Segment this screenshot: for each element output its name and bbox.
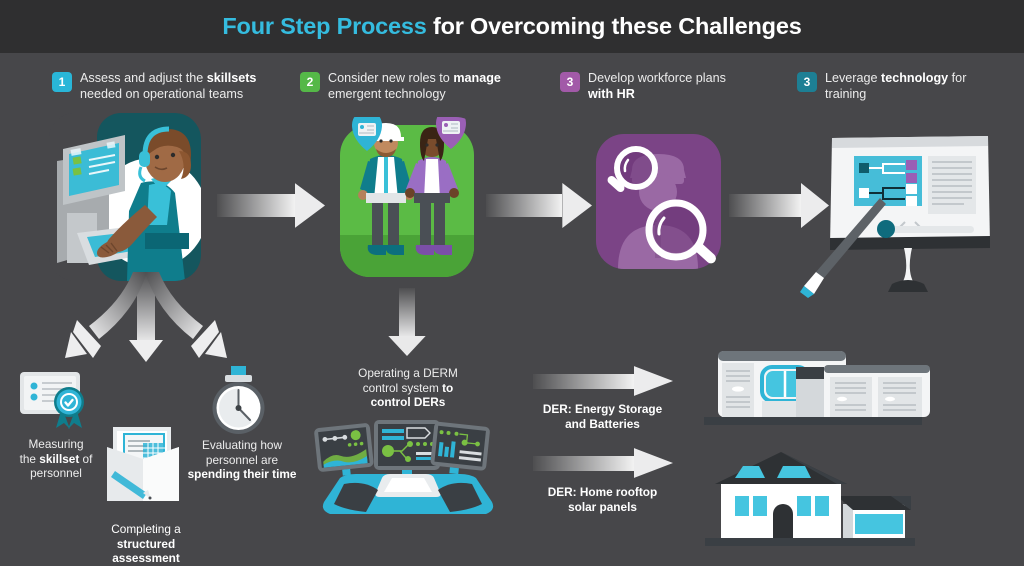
step-2-prefix: Consider new roles to xyxy=(328,71,453,85)
caption-measuring-skillset: Measuring the skillset of personnel xyxy=(8,437,104,481)
arrow-step2-to-step3 xyxy=(486,183,592,228)
caption-3-line3: spending their time xyxy=(188,467,297,481)
illustration-person-with-magnifiers xyxy=(594,132,729,277)
step-2-suffix: emergent technology xyxy=(328,87,446,101)
icon-stopwatch xyxy=(205,366,273,436)
arrow-head xyxy=(634,366,673,396)
step-4-prefix: Leverage xyxy=(825,71,881,85)
der-2-line2: solar panels xyxy=(568,500,637,514)
infographic-canvas: Four Step Process for Overcoming these C… xyxy=(0,0,1024,566)
arrow-shaft xyxy=(399,288,416,337)
illustration-presentation-board xyxy=(800,118,1015,308)
arrow-shaft xyxy=(533,374,634,389)
step-3-bold: with HR xyxy=(588,87,635,101)
icon-house-with-solar-panels xyxy=(695,448,935,548)
branch-arrows-step1 xyxy=(55,272,245,367)
step-header-3[interactable]: 3 Develop workforce plans with HR xyxy=(560,71,750,102)
der-1-line1: DER: Energy Storage xyxy=(543,402,662,416)
step-label-4: Leverage technology for training xyxy=(825,71,982,102)
caption-3-line1: Evaluating how xyxy=(202,438,282,452)
caption-1-line1: Measuring xyxy=(28,437,83,451)
caption-derm-line1: Operating a DERM xyxy=(358,366,458,380)
title-rest: for Overcoming these Challenges xyxy=(427,13,802,39)
step-2-bold: manage xyxy=(453,71,501,85)
illustration-two-field-workers xyxy=(330,117,482,279)
arrow-head xyxy=(634,448,673,478)
icon-battery-storage-units xyxy=(690,345,930,430)
step-1-suffix: needed on operational teams xyxy=(80,87,243,101)
page-title: Four Step Process for Overcoming these C… xyxy=(222,13,801,40)
step-label-1: Assess and adjust the skillsets needed o… xyxy=(80,71,287,102)
arrow-shaft xyxy=(486,194,562,217)
icon-certificate-with-rosette xyxy=(18,370,98,434)
arrow-step2-down xyxy=(388,288,426,356)
caption-derm-control-system: Operating a DERM control system to contr… xyxy=(340,366,476,410)
caption-2-line1: Completing a xyxy=(111,522,181,536)
arrow-shaft xyxy=(533,456,634,471)
caption-derm-line2-prefix: control system xyxy=(363,381,442,395)
step-3-prefix: Develop workforce plans xyxy=(588,71,726,85)
step-badge-4: 3 xyxy=(797,72,817,92)
step-label-2: Consider new roles to manage emergent te… xyxy=(328,71,525,102)
caption-1-line2-suffix: of xyxy=(79,452,92,466)
step-1-bold: skillsets xyxy=(207,71,257,85)
title-accent: Four Step Process xyxy=(222,13,426,39)
step-badge-1: 1 xyxy=(52,72,72,92)
caption-structured-assessment: Completing a structured assessment xyxy=(84,522,208,566)
header-bar: Four Step Process for Overcoming these C… xyxy=(0,0,1024,53)
step-header-1[interactable]: 1 Assess and adjust the skillsets needed… xyxy=(52,71,287,102)
arrow-der-solar-panels xyxy=(533,448,673,478)
step-header-4[interactable]: 3 Leverage technology for training xyxy=(797,71,982,102)
icon-clipboard-in-folder-with-pen xyxy=(103,415,187,505)
der-2-line1: DER: Home rooftop xyxy=(548,485,657,499)
arrow-head xyxy=(562,183,592,228)
caption-derm-line2-bold: to xyxy=(442,381,453,395)
icon-control-room-console xyxy=(312,418,504,518)
illustration-operator-at-terminal xyxy=(49,113,201,281)
step-badge-3: 3 xyxy=(560,72,580,92)
label-der-energy-storage: DER: Energy Storage and Batteries xyxy=(520,402,685,431)
step-1-prefix: Assess and adjust the xyxy=(80,71,207,85)
arrow-shaft xyxy=(217,194,295,217)
step-badge-2: 2 xyxy=(300,72,320,92)
der-1-line2: and Batteries xyxy=(565,417,640,431)
arrow-head xyxy=(388,336,426,356)
arrow-shaft xyxy=(729,194,801,217)
arrow-der-energy-storage xyxy=(533,366,673,396)
arrow-head xyxy=(295,183,325,228)
caption-evaluating-time: Evaluating how personnel are spending th… xyxy=(182,438,302,482)
step-header-2[interactable]: 2 Consider new roles to manage emergent … xyxy=(300,71,525,102)
step-label-3: Develop workforce plans with HR xyxy=(588,71,750,102)
step-4-bold: technology xyxy=(881,71,948,85)
caption-derm-line3: control DERs xyxy=(371,395,446,409)
caption-3-line2: personnel are xyxy=(206,453,278,467)
caption-1-line2-bold: skillset xyxy=(39,452,79,466)
arrow-step1-to-step2 xyxy=(217,183,325,228)
caption-1-line2-prefix: the xyxy=(20,452,40,466)
caption-1-line3: personnel xyxy=(30,466,82,480)
caption-2-line2: structured assessment xyxy=(112,537,180,566)
label-der-solar-panels: DER: Home rooftop solar panels xyxy=(520,485,685,514)
